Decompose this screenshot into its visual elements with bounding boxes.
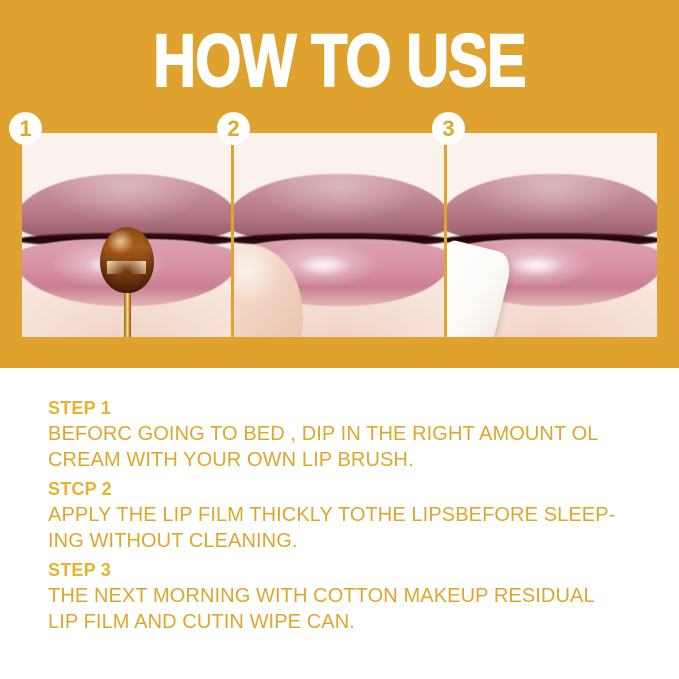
step-1-body: BEFORC GOING TO BED , DIP IN THE RIGHT A… — [48, 421, 648, 473]
step-badge-2: 2 — [217, 112, 250, 145]
step-badge-1: 1 — [9, 112, 42, 145]
step-3-body: THE NEXT MORNING WITH COTTON MAKEUP RESI… — [48, 583, 648, 635]
lip-gloss-highlight — [297, 255, 352, 275]
lip-gloss-highlight — [510, 255, 565, 275]
step-3-heading: STEP 3 — [48, 558, 648, 583]
step-image-1 — [22, 133, 231, 337]
step-2-heading: STCP 2 — [48, 477, 648, 502]
how-to-use-image-strip — [22, 133, 657, 337]
step-2-body: APPLY THE LIP FILM THICKLY TOTHE LIPSBEF… — [48, 502, 648, 554]
page-title: HOW TO USE — [68, 26, 611, 96]
applicator-head-icon — [100, 227, 154, 293]
step-image-2 — [234, 133, 444, 337]
step-image-3 — [447, 133, 657, 337]
step-block-1: STEP 1 BEFORC GOING TO BED , DIP IN THE … — [48, 396, 648, 473]
step-block-2: STCP 2 APPLY THE LIP FILM THICKLY TOTHE … — [48, 477, 648, 554]
step-1-heading: STEP 1 — [48, 396, 648, 421]
instructions-section: STEP 1 BEFORC GOING TO BED , DIP IN THE … — [48, 396, 648, 639]
step-badge-3: 3 — [432, 112, 465, 145]
step-block-3: STEP 3 THE NEXT MORNING WITH COTTON MAKE… — [48, 558, 648, 635]
